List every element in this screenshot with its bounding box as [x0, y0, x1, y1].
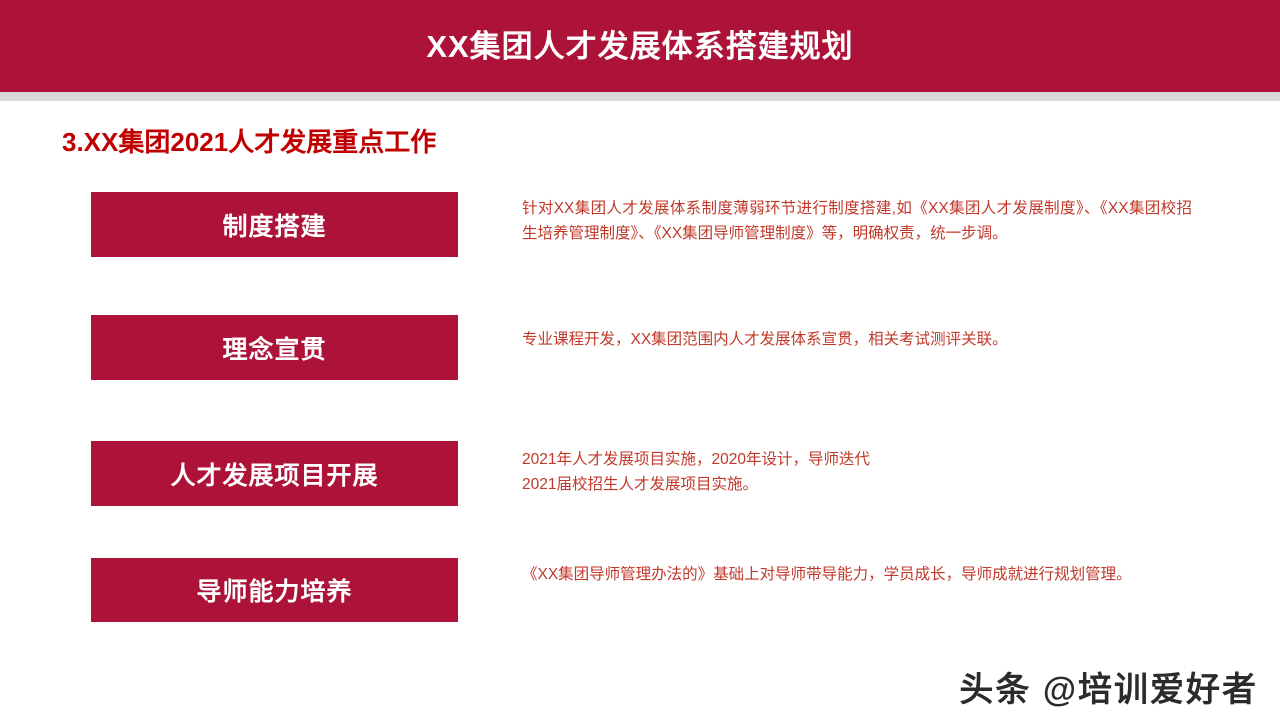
row-label-box-2: 理念宣贯: [91, 315, 458, 380]
content-rows: 制度搭建 针对XX集团人才发展体系制度薄弱环节进行制度搭建,如《XX集团人才发展…: [0, 0, 1280, 720]
watermark: 头条 @培训爱好者: [959, 662, 1258, 711]
row-description-line: 《XX集团导师管理办法的》基础上对导师带导能力，学员成长，导师成就进行规划管理。: [522, 562, 1192, 587]
row-description-4: 《XX集团导师管理办法的》基础上对导师带导能力，学员成长，导师成就进行规划管理。: [522, 562, 1192, 587]
row-description-3: 2021年人才发展项目实施，2020年设计，导师迭代 2021届校招生人才发展项…: [522, 447, 1192, 497]
row-description-line: 2021年人才发展项目实施，2020年设计，导师迭代: [522, 447, 1192, 472]
row-label-box-4: 导师能力培养: [91, 558, 458, 622]
row-description-2: 专业课程开发，XX集团范围内人才发展体系宣贯，相关考试测评关联。: [522, 327, 1192, 352]
row-description-line: 针对XX集团人才发展体系制度薄弱环节进行制度搭建,如《XX集团人才发展制度》、《…: [522, 196, 1192, 246]
row-description-1: 针对XX集团人才发展体系制度薄弱环节进行制度搭建,如《XX集团人才发展制度》、《…: [522, 196, 1192, 246]
row-label-box-1: 制度搭建: [91, 192, 458, 257]
row-description-line: 2021届校招生人才发展项目实施。: [522, 472, 1192, 497]
row-description-line: 专业课程开发，XX集团范围内人才发展体系宣贯，相关考试测评关联。: [522, 327, 1192, 352]
row-label-box-3: 人才发展项目开展: [91, 441, 458, 506]
